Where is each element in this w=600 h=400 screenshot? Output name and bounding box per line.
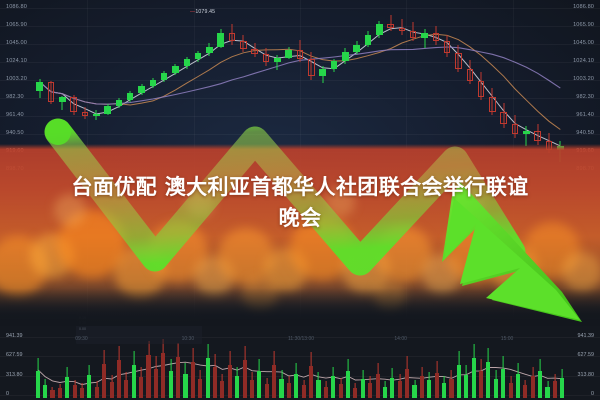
time-axis-label: 09:30 xyxy=(75,337,88,342)
time-axis-label: 15:00 xyxy=(501,337,514,342)
time-axis-label: 11:30/13:00 xyxy=(288,337,314,342)
time-axis-label: 14:00 xyxy=(394,337,407,342)
arrow-start-cap xyxy=(45,119,71,145)
banner-stage: 1086.801086.801065.901065.901045.001045.… xyxy=(0,0,600,400)
headline-line-2: 晚会 xyxy=(18,203,582,234)
headline-line-1: 台面优配 澳大利亚首都华人社团联合会举行联谊 xyxy=(18,172,582,203)
time-axis-label: 10:30 xyxy=(182,337,195,342)
page-title: 台面优配 澳大利亚首都华人社团联合会举行联谊 晚会 xyxy=(0,172,600,234)
